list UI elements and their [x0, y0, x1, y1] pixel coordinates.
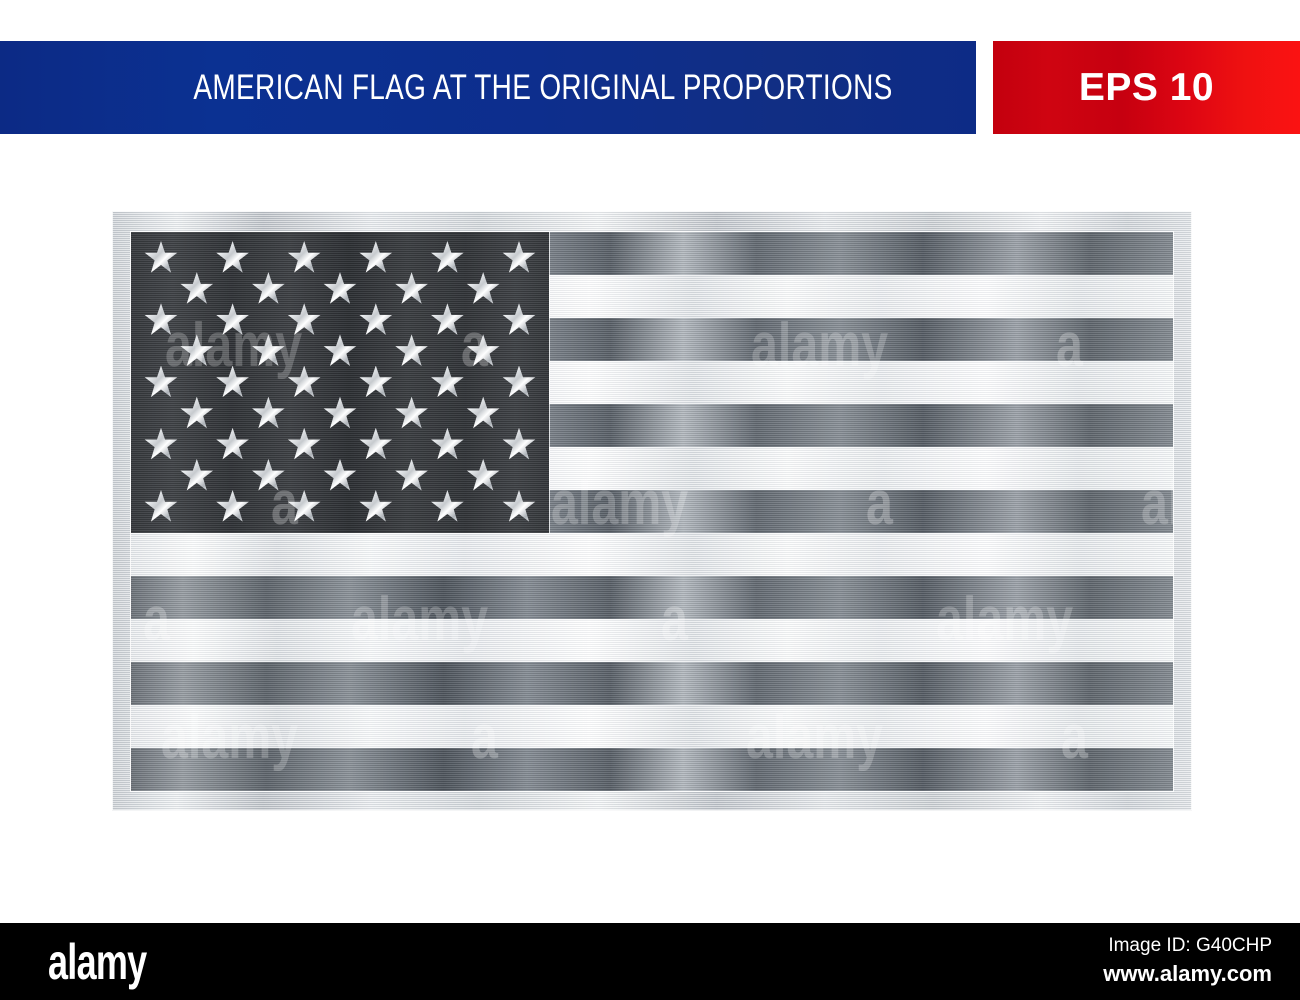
star-icon — [144, 428, 178, 462]
star-icon — [251, 459, 285, 493]
flag-field: alamyaalamyaaalamyaalamyalamyaalamyaaala… — [131, 232, 1173, 791]
star-icon — [180, 459, 214, 493]
star-icon — [144, 241, 178, 275]
star-icon — [216, 303, 250, 337]
flag-stripe — [131, 533, 1173, 577]
star-icon — [359, 241, 393, 275]
star-icon — [287, 366, 321, 400]
star-icon — [216, 428, 250, 462]
star-icon — [287, 241, 321, 275]
star-icon — [466, 334, 500, 368]
star-icon — [144, 366, 178, 400]
flag-stripe — [131, 662, 1173, 706]
flag-illustration: alamyaalamyaaalamyaalamyalamyaalamyaaala… — [112, 211, 1192, 811]
star-icon — [430, 428, 464, 462]
footer-watermark-bar: alamy Image ID: G40CHP www.alamy.com — [0, 923, 1300, 1000]
star-icon — [430, 490, 464, 524]
star-icon — [466, 397, 500, 431]
star-icon — [144, 490, 178, 524]
star-icon — [180, 272, 214, 306]
star-icon — [323, 272, 357, 306]
star-icon — [180, 397, 214, 431]
flag-stripe — [131, 748, 1173, 791]
star-icon — [430, 303, 464, 337]
flag-stripe — [131, 619, 1173, 663]
star-icon — [466, 459, 500, 493]
star-icon — [395, 334, 429, 368]
star-icon — [251, 272, 285, 306]
star-icon — [359, 303, 393, 337]
star-icon — [502, 303, 536, 337]
star-icon — [287, 490, 321, 524]
star-icon — [287, 428, 321, 462]
star-icon — [395, 459, 429, 493]
star-icon — [502, 490, 536, 524]
star-icon — [430, 366, 464, 400]
star-icon — [323, 334, 357, 368]
star-icon — [359, 490, 393, 524]
image-id-label: Image ID: G40CHP — [1108, 935, 1272, 957]
eps-badge: EPS 10 — [993, 41, 1300, 134]
star-icon — [466, 272, 500, 306]
star-icon — [216, 490, 250, 524]
star-icon — [395, 397, 429, 431]
star-icon — [502, 366, 536, 400]
star-icon — [216, 241, 250, 275]
flag-canton — [131, 232, 549, 533]
star-icon — [359, 428, 393, 462]
star-icon — [216, 366, 250, 400]
star-icon — [502, 241, 536, 275]
star-icon — [251, 334, 285, 368]
title-bar: AMERICAN FLAG AT THE ORIGINAL PROPORTION… — [0, 41, 976, 134]
star-icon — [323, 397, 357, 431]
star-icon — [287, 303, 321, 337]
star-icon — [502, 428, 536, 462]
eps-badge-label: EPS 10 — [1079, 66, 1214, 110]
alamy-logo: alamy — [48, 933, 146, 991]
star-icon — [251, 397, 285, 431]
star-icon — [359, 366, 393, 400]
star-icon — [430, 241, 464, 275]
star-icon — [180, 334, 214, 368]
star-icon — [144, 303, 178, 337]
header-banner: AMERICAN FLAG AT THE ORIGINAL PROPORTION… — [0, 41, 1300, 134]
star-icon — [323, 459, 357, 493]
flag-stripe — [131, 576, 1173, 620]
page-title: AMERICAN FLAG AT THE ORIGINAL PROPORTION… — [193, 68, 892, 108]
alamy-url-label: www.alamy.com — [1103, 961, 1272, 987]
flag-stripe — [131, 705, 1173, 749]
star-icon — [395, 272, 429, 306]
